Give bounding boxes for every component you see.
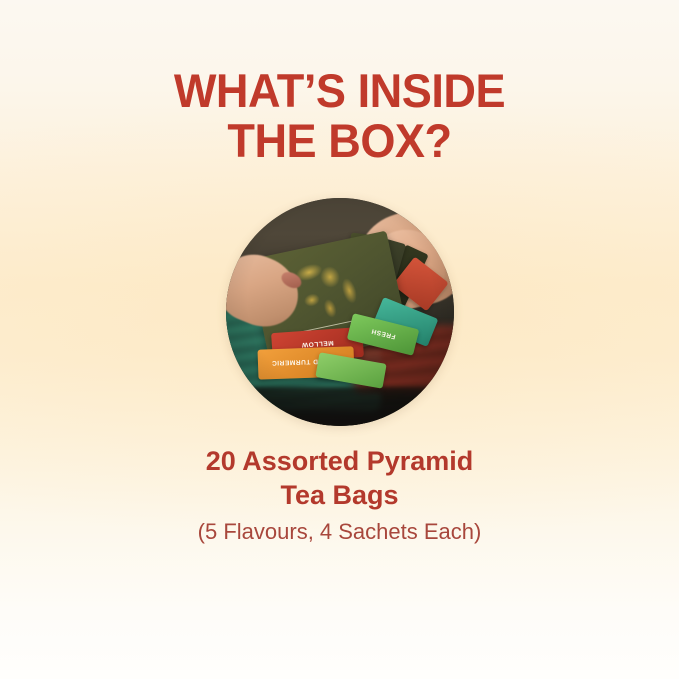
caption-line-2: Tea Bags	[0, 478, 679, 512]
caption-block: 20 Assorted Pyramid Tea Bags (5 Flavours…	[0, 444, 679, 545]
caption-main: 20 Assorted Pyramid Tea Bags	[0, 444, 679, 512]
page-title-line-1: WHAT’S INSIDE	[14, 66, 666, 116]
page-title-line-2: THE BOX?	[14, 116, 666, 166]
caption-subtitle: (5 Flavours, 4 Sachets Each)	[0, 518, 679, 545]
product-photo: HIMALAYAN GREEN GREEN TEA MELLOW FRESH S…	[226, 198, 454, 426]
background-dark-bar	[226, 387, 454, 426]
sachet-fresh-label: FRESH	[349, 322, 417, 345]
product-photo-circle: HIMALAYAN GREEN GREEN TEA MELLOW FRESH S…	[226, 198, 454, 426]
page-title: WHAT’S INSIDE THE BOX?	[14, 66, 666, 166]
caption-line-1: 20 Assorted Pyramid	[0, 444, 679, 478]
page-content: WHAT’S INSIDE THE BOX?	[0, 0, 679, 679]
infographic-page: WHAT’S INSIDE THE BOX?	[0, 0, 679, 679]
